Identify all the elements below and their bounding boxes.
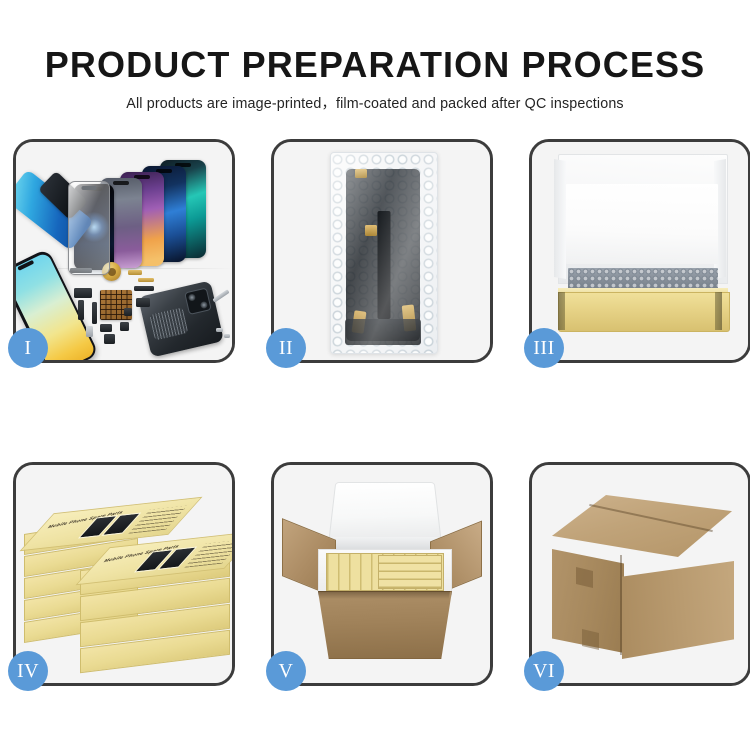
spare-part	[78, 300, 84, 320]
yellow-box-front	[558, 292, 730, 332]
step-panel-2: II	[271, 139, 493, 363]
flex-cable	[378, 211, 391, 319]
styrofoam-lid	[328, 482, 441, 542]
spare-part	[92, 302, 97, 324]
step-panel-4: Mobile Phone Spare Parts Mobile Phone Sp…	[13, 462, 235, 686]
carton-tape-patch	[576, 567, 593, 588]
part-base	[345, 319, 421, 345]
product-preparation-infographic: PRODUCT PREPARATION PROCESS All products…	[0, 0, 750, 750]
step-badge-1: I	[8, 328, 48, 368]
step-image-4: Mobile Phone Spare Parts Mobile Phone Sp…	[16, 465, 232, 683]
step-image-2	[274, 142, 490, 360]
step-badge-4: IV	[8, 651, 48, 691]
bubble-wrap-bag	[330, 152, 438, 354]
spare-part	[124, 308, 132, 316]
screen-protector-glass	[68, 181, 110, 275]
spare-part	[104, 334, 115, 344]
step-panel-5: V	[271, 462, 493, 686]
step-badge-5: V	[266, 651, 306, 691]
carton-right-face	[622, 561, 734, 659]
gold-connector	[355, 169, 367, 178]
spare-part	[134, 286, 154, 291]
camera-module	[184, 287, 212, 315]
yellow-boxes-inside	[378, 555, 442, 589]
step-badge-6: VI	[524, 651, 564, 691]
step-image-5	[274, 465, 490, 683]
box-flap-left	[554, 159, 566, 279]
spare-part	[136, 298, 150, 307]
screw-part	[216, 328, 223, 332]
step-badge-3: III	[524, 328, 564, 368]
spare-part	[86, 326, 93, 337]
step-image-3	[532, 142, 748, 360]
page-title: PRODUCT PREPARATION PROCESS	[0, 0, 750, 86]
battery-coil	[149, 307, 188, 340]
label-spec-lines	[184, 540, 232, 568]
header: PRODUCT PREPARATION PROCESS All products…	[0, 0, 750, 113]
process-steps-grid: I II	[13, 139, 737, 686]
spare-part	[138, 278, 154, 282]
glass-notch	[82, 186, 97, 190]
page-subtitle: All products are image-printed，film-coat…	[0, 86, 750, 113]
label-spec-lines	[128, 506, 187, 534]
foam-sheet	[566, 184, 718, 264]
carton-vertical-edge	[620, 555, 622, 655]
spare-part	[100, 324, 112, 332]
step-panel-1: I	[13, 139, 235, 363]
box-stack: Mobile Phone Spare Parts Mobile Phone Sp…	[22, 481, 230, 677]
spare-part	[120, 322, 129, 331]
step-badge-2: II	[266, 328, 306, 368]
screw-part	[224, 334, 230, 338]
box-corner-right	[715, 292, 722, 330]
gold-connector	[365, 225, 377, 236]
carton-front-shadow	[318, 591, 450, 599]
spare-part	[128, 270, 142, 275]
box-corner-left	[558, 292, 565, 330]
carton-top-face	[552, 495, 732, 557]
phone-notch	[113, 181, 129, 185]
carton-tape-patch	[582, 629, 599, 650]
carton-front	[318, 591, 452, 659]
step-panel-6: VI	[529, 462, 750, 686]
step-image-1	[16, 142, 232, 360]
step-image-6	[532, 465, 748, 683]
styrofoam-lid-edge	[330, 537, 438, 549]
spare-part	[74, 288, 92, 298]
step-panel-3: III	[529, 139, 750, 363]
